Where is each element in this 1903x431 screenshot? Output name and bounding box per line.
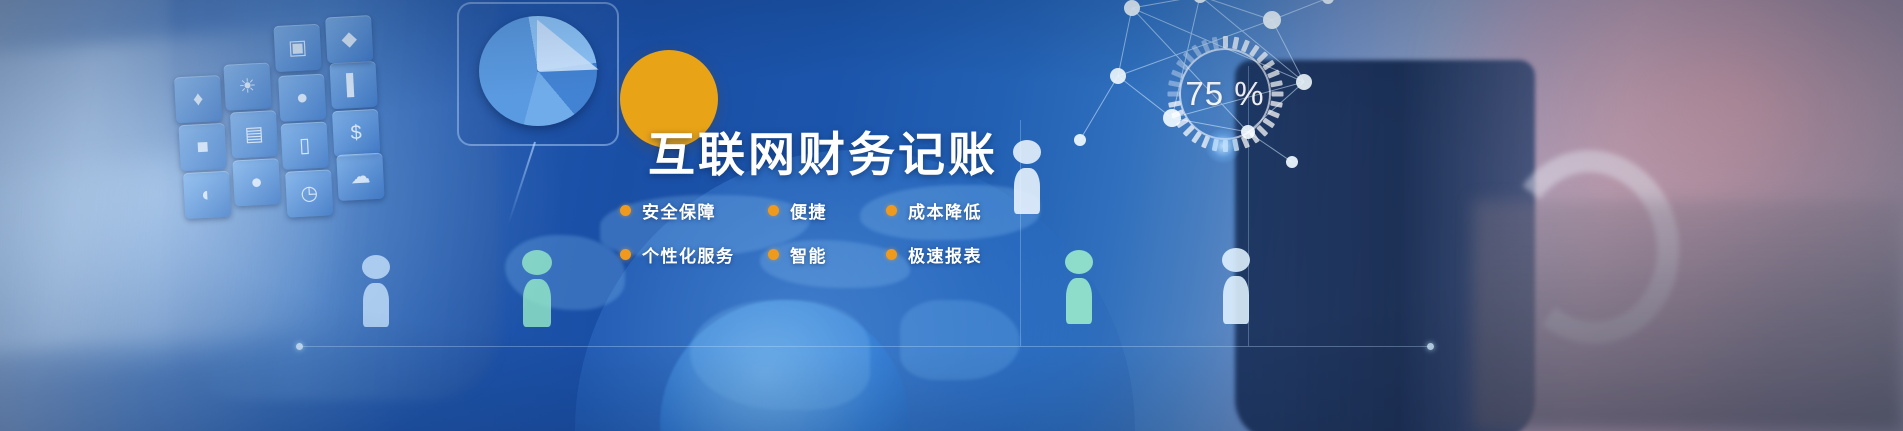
bullet-dot-icon [886,205,897,216]
feature-row: 安全保障 便捷 成本降低 [620,188,1140,232]
bullet-dot-icon [768,205,779,216]
feature-row: 个性化服务 智能 极速报表 [620,232,1140,276]
feature-item-intelligent: 智能 [768,242,886,267]
feature-item-security: 安全保障 [620,198,768,223]
feature-label: 个性化服务 [642,242,735,267]
feature-list: 安全保障 便捷 成本降低 个性化服务 智能 [620,188,1140,276]
feature-item-convenient: 便捷 [768,198,886,223]
feature-label: 安全保障 [642,198,716,223]
feature-item-personalized-service: 个性化服务 [620,242,768,267]
bullet-dot-icon [620,205,631,216]
feature-item-cost-reduction: 成本降低 [886,198,1026,223]
feature-label: 成本降低 [908,198,982,223]
bullet-dot-icon [886,249,897,260]
feature-label: 极速报表 [908,242,982,267]
feature-label: 便捷 [790,198,827,223]
marketing-banner: ♦ ☀ ▣ ▤ ● ▌ ■ ▯ $ ◐ ● ◷ ☁ ◆ [0,0,1903,431]
bullet-dot-icon [620,249,631,260]
bullet-dot-icon [768,249,779,260]
feature-item-fast-reports: 极速报表 [886,242,1026,267]
banner-title: 互联网财务记账 [648,116,998,185]
feature-label: 智能 [790,242,827,267]
